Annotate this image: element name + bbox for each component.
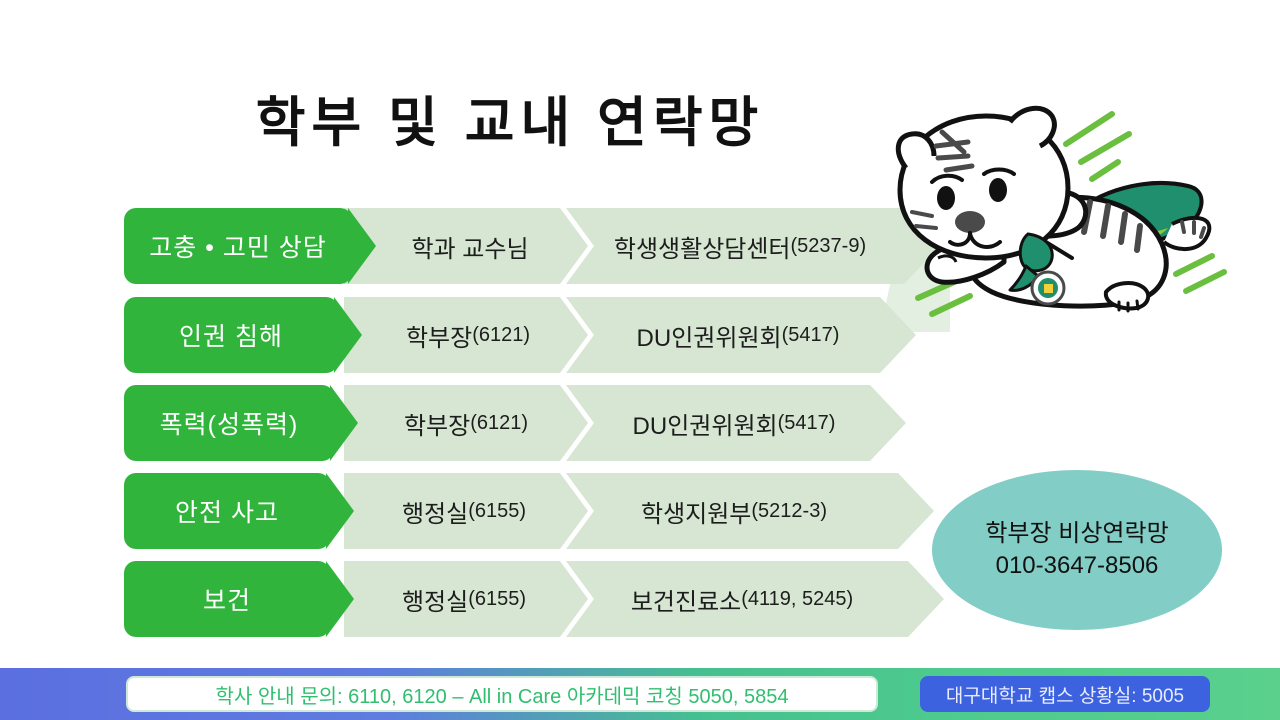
emergency-contact-badge[interactable]: 학부장 비상연락망 010-3647-8506 [932, 470, 1222, 630]
academic-inquiry-text: 학사 안내 문의: 6110, 6120 – All in Care 아카데믹 … [216, 680, 789, 709]
security-desk-text: 대구대학교 캡스 상황실: 5005 [946, 681, 1184, 708]
row-second-contact-label: 학생생활상담센터 [614, 229, 791, 264]
row-second-contact-label: DU인권위원회 [633, 406, 778, 441]
row-category-label: 보건 [203, 581, 251, 617]
row-category[interactable]: 폭력(성폭력) [124, 385, 334, 461]
row-first-contact-label: 행정실 [402, 494, 468, 529]
footer-bar: 학사 안내 문의: 6110, 6120 – All in Care 아카데믹 … [0, 668, 1280, 720]
row-first-contact[interactable]: 학부장(6121) [358, 385, 574, 461]
row-category[interactable]: 보건 [124, 561, 330, 637]
row-category[interactable]: 안전 사고 [124, 473, 330, 549]
row-first-contact-ext: (6121) [472, 324, 530, 347]
slide-canvas: 학부 및 교내 연락망 고충 • 고민 상담 학과 교수님 학생생활상담센터(5… [0, 0, 1280, 720]
row-first-contact-ext: (6121) [470, 412, 528, 435]
row-second-contact[interactable]: DU인권위원회(5417) [578, 297, 898, 373]
row-second-contact[interactable]: 학생생활상담센터(5237-9) [580, 208, 900, 284]
row-second-contact-label: 보건진료소 [631, 582, 741, 617]
emergency-contact-label: 학부장 비상연락망 [985, 518, 1168, 550]
row-second-contact-label: DU인권위원회 [637, 318, 782, 353]
row-second-contact-ext: (5417) [782, 324, 840, 347]
row-category[interactable]: 인권 침해 [124, 297, 338, 373]
emergency-contact-phone: 010-3647-8506 [996, 550, 1159, 582]
academic-inquiry-pill[interactable]: 학사 안내 문의: 6110, 6120 – All in Care 아카데믹 … [126, 676, 878, 712]
row-first-contact[interactable]: 행정실(6155) [356, 473, 572, 549]
row-second-contact-ext: (5417) [778, 412, 836, 435]
row-first-contact-label: 학과 교수님 [411, 229, 528, 264]
row-category[interactable]: 고충 • 고민 상담 [124, 208, 352, 284]
row-first-contact-ext: (6155) [468, 588, 526, 611]
row-first-contact-label: 학부장 [406, 318, 472, 353]
row-second-contact-label: 학생지원부 [641, 494, 751, 529]
security-desk-pill[interactable]: 대구대학교 캡스 상황실: 5005 [920, 676, 1210, 712]
row-first-contact[interactable]: 학과 교수님 [362, 208, 578, 284]
row-second-contact-ext: (4119, 5245) [741, 588, 853, 611]
page-title: 학부 및 교내 연락망 [0, 78, 1280, 157]
row-category-label: 고충 • 고민 상담 [149, 228, 327, 264]
row-first-contact-ext: (6155) [468, 500, 526, 523]
row-category-label: 인권 침해 [179, 317, 283, 353]
row-second-contact[interactable]: DU인권위원회(5417) [574, 385, 894, 461]
row-first-contact-label: 행정실 [402, 582, 468, 617]
row-category-label: 안전 사고 [175, 493, 279, 529]
row-second-contact[interactable]: 학생지원부(5212-3) [574, 473, 894, 549]
row-second-contact-ext: (5237-9) [791, 235, 867, 258]
row-category-label: 폭력(성폭력) [160, 405, 299, 441]
row-second-contact-ext: (5212-3) [751, 500, 827, 523]
row-first-contact[interactable]: 행정실(6155) [356, 561, 572, 637]
row-first-contact-label: 학부장 [404, 406, 470, 441]
row-second-contact[interactable]: 보건진료소(4119, 5245) [576, 561, 908, 637]
row-first-contact[interactable]: 학부장(6121) [360, 297, 576, 373]
